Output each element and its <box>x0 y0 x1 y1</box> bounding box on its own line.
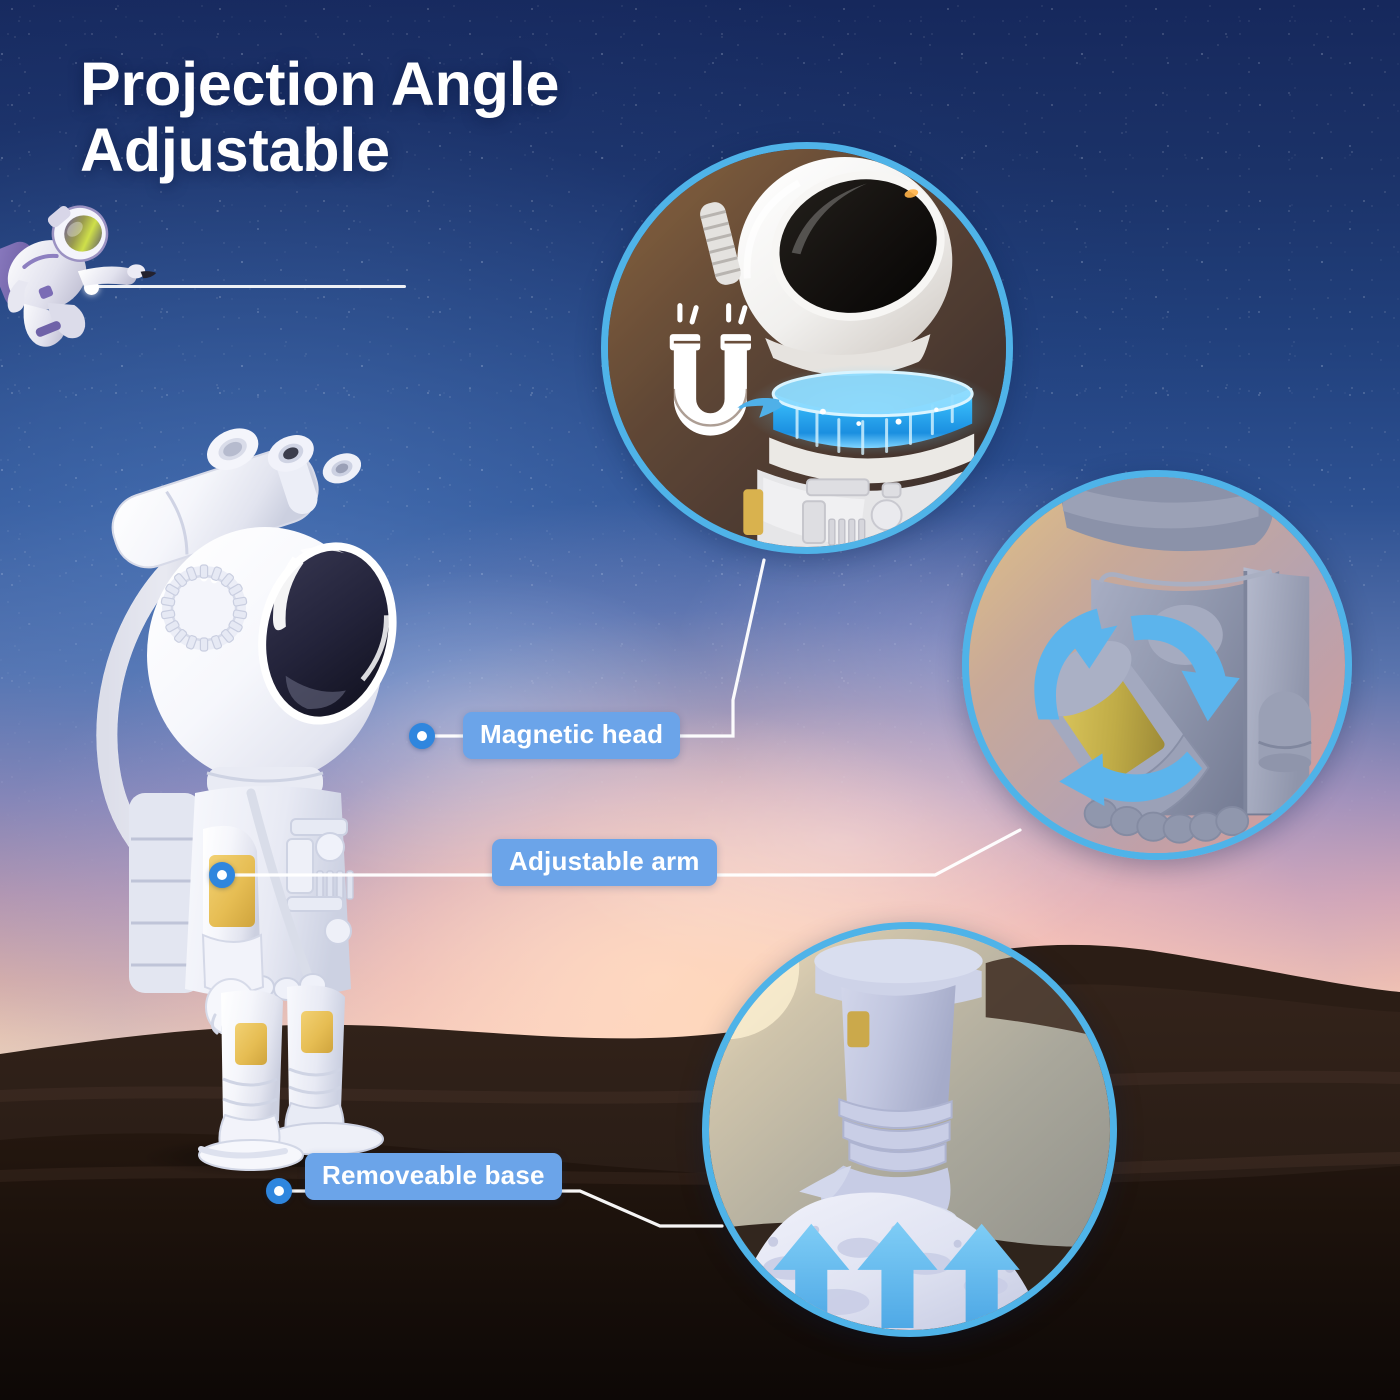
callout-base-detach-detail <box>702 922 1117 1337</box>
infographic-canvas: Projection Angle Adjustable <box>0 0 1400 1400</box>
label-magnetic-head[interactable]: Magnetic head <box>463 712 680 759</box>
astronaut-photo-decoration <box>0 176 176 366</box>
marker-dot-magnetic-head <box>409 723 435 749</box>
marker-dot-removeable-base <box>266 1178 292 1204</box>
marker-dot-adjustable-arm <box>209 862 235 888</box>
product-figure <box>55 415 475 1175</box>
callout-magnet-detail <box>601 142 1013 554</box>
callout-arm-rotation-detail <box>962 470 1352 860</box>
label-adjustable-arm[interactable]: Adjustable arm <box>492 839 717 886</box>
label-removeable-base[interactable]: Removeable base <box>305 1153 562 1200</box>
